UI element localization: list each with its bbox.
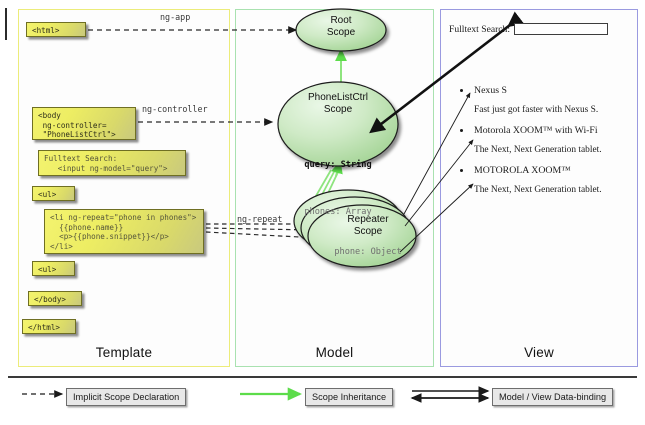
edge-label-ng-repeat: ng-repeat [237, 214, 282, 224]
bullet-icon [460, 89, 463, 92]
panel-label-model: Model [236, 345, 433, 360]
phone-list: Nexus S Fast just got faster with Nexus … [460, 85, 638, 205]
phone-snippet: The Next, Next Generation tablet. [474, 144, 638, 156]
bullet-icon [460, 129, 463, 132]
left-margin-rule [5, 8, 7, 40]
legend-arrow-databinding [412, 391, 488, 398]
code-box-search-input: Fulltext Search: <input ng-model="query"… [38, 150, 186, 176]
panel-model: Model [235, 9, 434, 367]
view-rendered-output: Fulltext Search: Nexus S Fast just got f… [440, 9, 638, 367]
list-item: Motorola XOOM™ with Wi-Fi The Next, Next… [460, 125, 638, 156]
legend-item-implicit-scope-declaration: Implicit Scope Declaration [66, 388, 186, 406]
phone-name: Motorola XOOM™ with Wi-Fi [474, 125, 638, 137]
legend-separator [8, 376, 637, 378]
code-box-ul-close: <ul> [32, 261, 75, 276]
bullet-icon [460, 169, 463, 172]
legend-item-model-view-data-binding: Model / View Data-binding [492, 388, 613, 406]
code-box-ul-open: <ul> [32, 186, 75, 201]
code-box-html-close: </html> [22, 319, 76, 334]
panel-label-template: Template [19, 345, 229, 360]
phone-name: MOTOROLA XOOM™ [474, 165, 638, 177]
list-item: MOTOROLA XOOM™ The Next, Next Generation… [460, 165, 638, 196]
phone-name: Nexus S [474, 85, 638, 97]
fulltext-search-label: Fulltext Search: [449, 24, 510, 35]
list-item: Nexus S Fast just got faster with Nexus … [460, 85, 638, 116]
code-box-body-close: </body> [28, 291, 82, 306]
edge-label-ng-app: ng-app [160, 12, 190, 22]
search-input[interactable] [514, 23, 608, 35]
legend-item-scope-inheritance: Scope Inheritance [305, 388, 393, 406]
fulltext-search-row: Fulltext Search: [449, 23, 608, 35]
edge-label-ng-controller: ng-controller [142, 104, 208, 114]
angularjs-architecture-diagram: Template Model View [0, 0, 645, 425]
phone-snippet: Fast just got faster with Nexus S. [474, 104, 638, 116]
code-box-li-repeat: <li ng-repeat="phone in phones"> {{phone… [44, 209, 204, 254]
code-box-html-open: <html> [26, 22, 86, 37]
code-box-body-open: <body ng-controller= "PhoneListCtrl"> [32, 107, 136, 140]
phone-snippet: The Next, Next Generation tablet. [474, 184, 638, 196]
